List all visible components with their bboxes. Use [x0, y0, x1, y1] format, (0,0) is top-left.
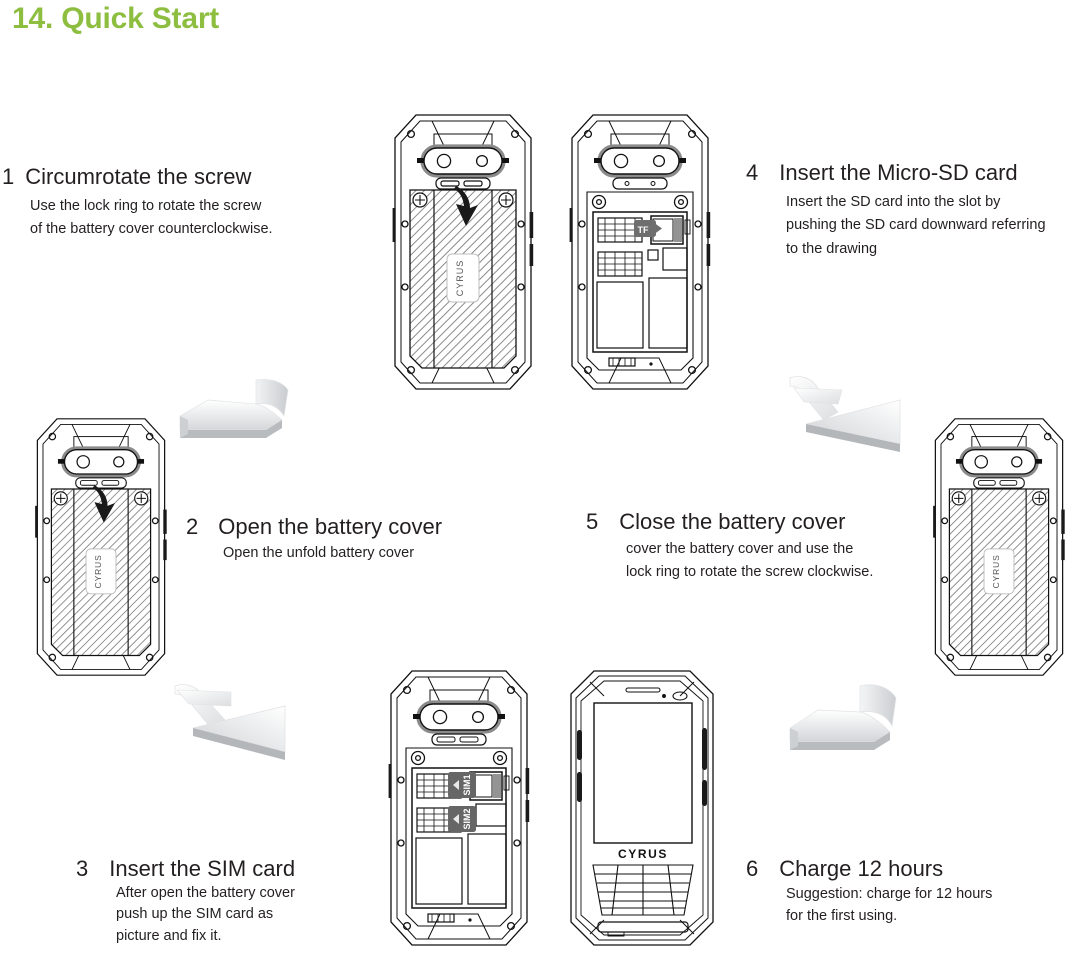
step-3-body: After open the battery cover push up the…	[116, 883, 295, 947]
step-2-heading: 2 Open the battery cover	[186, 514, 442, 540]
step-4-body-line: pushing the SD card downward referring	[786, 214, 1046, 237]
step-6-title: Charge 12 hours	[779, 856, 943, 882]
svg-text:SIM1: SIM1	[462, 774, 472, 795]
figure-phone-back-open-sim: SIM1 SIM2	[386, 668, 532, 953]
pointer-arrow-step6	[780, 680, 915, 780]
step-4-body-line: Insert the SD card into the slot by	[786, 191, 1046, 214]
step-6-body: Suggestion: charge for 12 hours for the …	[786, 883, 992, 927]
svg-text:CYRUS: CYRUS	[991, 554, 1001, 588]
step-1-number: 1	[2, 164, 14, 190]
step-3: 3 Insert the SIM card After open the bat…	[76, 856, 295, 947]
step-6-body-line: for the first using.	[786, 905, 992, 927]
step-3-number: 3	[76, 856, 88, 882]
step-1-heading: 1 Circumrotate the screw	[2, 164, 273, 190]
figure-phone-back-closed-step5: CYRUS	[928, 416, 1070, 683]
step-5-title: Close the battery cover	[619, 509, 845, 535]
step-3-heading: 3 Insert the SIM card	[76, 856, 295, 882]
step-3-body-line: picture and fix it.	[116, 926, 295, 947]
step-5-number: 5	[586, 509, 598, 535]
step-4-title: Insert the Micro-SD card	[779, 160, 1017, 186]
step-1-body-line: Use the lock ring to rotate the screw	[30, 195, 273, 218]
step-4-body-line: to the drawing	[786, 238, 1046, 261]
svg-text:TF: TF	[638, 225, 649, 235]
step-4-body: Insert the SD card into the slot by push…	[786, 191, 1046, 261]
svg-text:CYRUS: CYRUS	[618, 847, 668, 861]
step-6-number: 6	[746, 856, 758, 882]
step-4-heading: 4 Insert the Micro-SD card	[746, 160, 1046, 186]
figure-phone-back-closed-step2: CYRUS	[30, 416, 172, 683]
step-1-body-line: of the battery cover counterclockwise.	[30, 218, 273, 241]
step-2-body: Open the unfold battery cover	[223, 542, 442, 565]
step-1-title: Circumrotate the screw	[25, 164, 251, 190]
step-6-body-line: Suggestion: charge for 12 hours	[786, 883, 992, 905]
step-2-number: 2	[186, 514, 198, 540]
step-4: 4 Insert the Micro-SD card Insert the SD…	[746, 160, 1046, 261]
step-1-body: Use the lock ring to rotate the screw of…	[30, 195, 273, 242]
figure-phone-back-closed-step1: CYRUS	[392, 112, 534, 397]
pointer-arrow-step3	[163, 680, 298, 780]
step-5-body: cover the battery cover and use the lock…	[626, 538, 873, 585]
step-4-number: 4	[746, 160, 758, 186]
step-3-title: Insert the SIM card	[109, 856, 295, 882]
svg-text:CYRUS: CYRUS	[93, 554, 103, 588]
step-3-body-line: push up the SIM card as	[116, 904, 295, 925]
step-6: 6 Charge 12 hours Suggestion: charge for…	[746, 856, 992, 927]
step-2: 2 Open the battery cover Open the unfold…	[186, 514, 442, 565]
step-2-body-line: Open the unfold battery cover	[223, 542, 442, 565]
figure-phone-front: CYRUS	[568, 668, 718, 953]
step-5: 5 Close the battery cover cover the batt…	[586, 509, 873, 585]
pointer-arrow-step2	[168, 372, 298, 467]
figure-phone-back-open-sd: TF	[567, 112, 713, 397]
step-5-body-line: cover the battery cover and use the	[626, 538, 873, 561]
page-title: 14. Quick Start	[12, 2, 219, 36]
svg-text:CYRUS: CYRUS	[455, 260, 465, 297]
step-3-body-line: After open the battery cover	[116, 883, 295, 904]
step-2-title: Open the battery cover	[218, 514, 442, 540]
step-5-body-line: lock ring to rotate the screw clockwise.	[626, 561, 873, 584]
svg-text:SIM2: SIM2	[462, 808, 472, 829]
step-1: 1 Circumrotate the screw Use the lock ri…	[2, 164, 273, 242]
step-6-heading: 6 Charge 12 hours	[746, 856, 992, 882]
pointer-arrow-step5	[778, 374, 913, 469]
step-5-heading: 5 Close the battery cover	[586, 509, 873, 535]
